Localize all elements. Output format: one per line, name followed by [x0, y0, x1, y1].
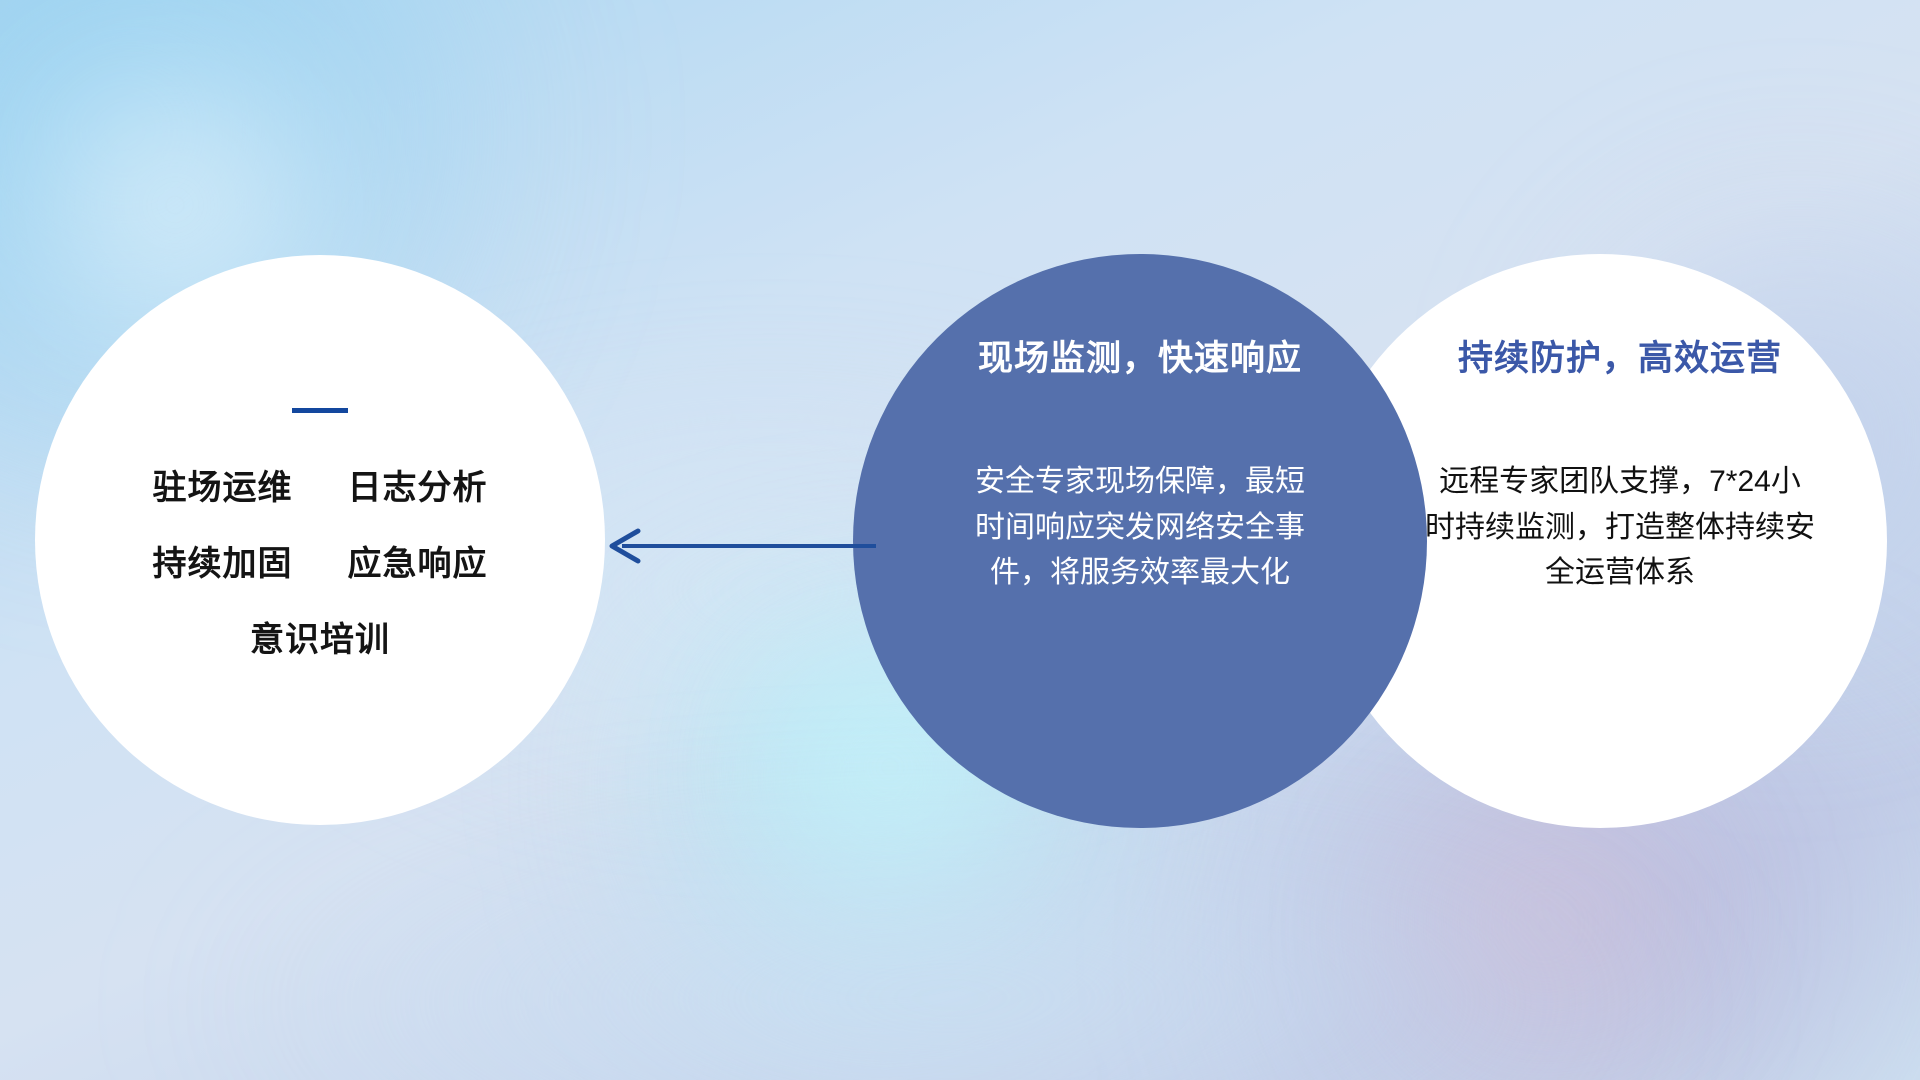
- accent-dash-icon: [292, 408, 348, 413]
- keyword-continuous-hardening: 持续加固: [153, 545, 293, 583]
- middle-circle-body: 安全专家现场保障，最短时间响应突发网络安全事件，将服务效率最大化: [975, 459, 1305, 596]
- keyword-row-1: 驻场运维 日志分析: [35, 471, 605, 505]
- capability-circle-middle[interactable]: 现场监测，快速响应 安全专家现场保障，最短时间响应突发网络安全事件，将服务效率最…: [853, 254, 1427, 828]
- keyword-row-3: 意识培训: [35, 623, 605, 657]
- keyword-emergency-response: 应急响应: [347, 545, 487, 583]
- keyword-onsite-ops: 驻场运维: [153, 469, 293, 507]
- middle-circle-content: 现场监测，快速响应 安全专家现场保障，最短时间响应突发网络安全事件，将服务效率最…: [853, 254, 1427, 596]
- keyword-log-analysis: 日志分析: [347, 469, 487, 507]
- keyword-row-2: 持续加固 应急响应: [35, 547, 605, 581]
- keyword-awareness-training: 意识培训: [250, 621, 390, 659]
- right-circle-body: 远程专家团队支撑，7*24小时持续监测，打造整体持续安全运营体系: [1425, 459, 1815, 596]
- left-circle-content: 驻场运维 日志分析 持续加固 应急响应 意识培训: [35, 408, 605, 657]
- capability-circle-left[interactable]: 驻场运维 日志分析 持续加固 应急响应 意识培训: [35, 255, 605, 825]
- slide-canvas: 驻场运维 日志分析 持续加固 应急响应 意识培训 持续防护，高效运营 远程专家团…: [0, 0, 1920, 1080]
- right-circle-title: 持续防护，高效运营: [1353, 330, 1887, 381]
- middle-circle-title: 现场监测，快速响应: [853, 330, 1427, 381]
- connector-arrow-left-icon: [600, 520, 880, 572]
